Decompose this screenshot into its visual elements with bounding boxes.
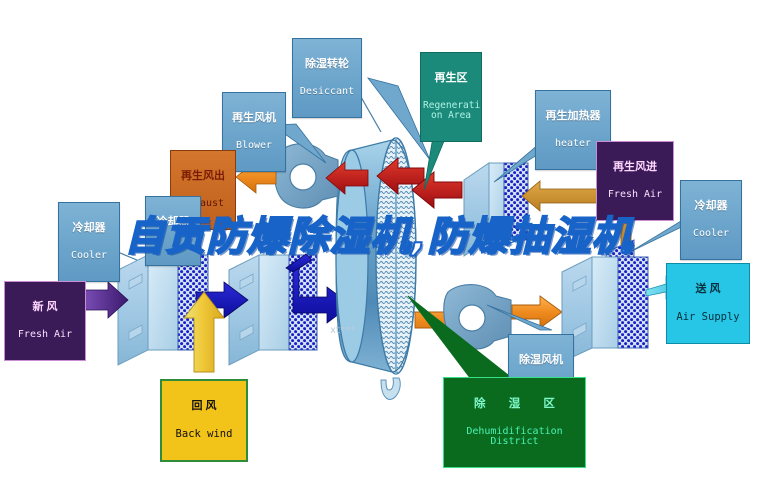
callout-cooler-right[interactable]: 冷却器 Cooler [680, 180, 742, 260]
dehumidifier-airflow-diagram: 除湿转轮 Desiccant 再生风机 Blower 再生区 Regenerat… [0, 0, 757, 488]
callout-air-supply-cn: 送 风 [669, 284, 747, 296]
callout-dehumidification-district-en: Dehumidification District [446, 427, 583, 448]
callout-cooler-right-cn: 冷却器 [683, 201, 739, 213]
callout-cooler-left-cn: 冷却器 [61, 223, 117, 235]
callout-regeneration-area[interactable]: 再生区 Regenerati on Area [420, 52, 482, 142]
regen-heater-unit [464, 163, 528, 256]
callout-dehumidification-district-cn: 除 湿 区 [446, 398, 583, 410]
callout-cooler-left-en: Cooler [61, 251, 117, 262]
callout-back-wind[interactable]: 回 风 Back wind [160, 379, 248, 462]
callout-cooler-mid[interactable]: 冷却器 [145, 196, 201, 266]
callout-fresh-air[interactable]: 新 风 Fresh Air [4, 281, 86, 361]
callout-regen-fresh-air-cn: 再生风进 [599, 162, 671, 174]
callout-fresh-air-en: Fresh Air [7, 330, 83, 341]
callout-regeneration-area-cn: 再生区 [423, 73, 479, 85]
callout-fresh-air-cn: 新 风 [7, 302, 83, 314]
callout-exhaust-cn: 再生风出 [173, 171, 233, 183]
callout-desiccant[interactable]: 除湿转轮 Desiccant [292, 38, 362, 118]
callout-regen-heater-cn: 再生加热器 [538, 111, 608, 123]
callout-dehumidification-district[interactable]: 除 湿 区 Dehumidification District [443, 377, 586, 468]
supply-coil [562, 257, 648, 362]
callout-regen-blower-cn: 再生风机 [225, 113, 283, 125]
callout-desiccant-en: Desiccant [295, 87, 359, 98]
callout-cooler-mid-cn: 冷却器 [148, 217, 198, 229]
callout-air-supply-en: Air Supply [669, 312, 747, 323]
callout-desiccant-cn: 除湿转轮 [295, 59, 359, 71]
callout-cooler-left[interactable]: 冷却器 Cooler [58, 202, 120, 282]
callout-back-wind-cn: 回 风 [164, 401, 244, 413]
callout-back-wind-en: Back wind [164, 429, 244, 440]
faint-site-mark: xt*** [330, 325, 355, 336]
callout-regeneration-area-en: Regenerati on Area [423, 101, 479, 121]
callout-cooler-right-en: Cooler [683, 229, 739, 240]
callout-air-supply[interactable]: 送 风 Air Supply [666, 263, 750, 344]
callout-dehum-blower-cn: 除湿风机 [511, 355, 571, 367]
callout-regen-fresh-air-en: Fresh Air [599, 190, 671, 201]
arrow-dry-air-2 [512, 296, 562, 328]
callout-regen-fresh-air[interactable]: 再生风进 Fresh Air [596, 141, 674, 221]
